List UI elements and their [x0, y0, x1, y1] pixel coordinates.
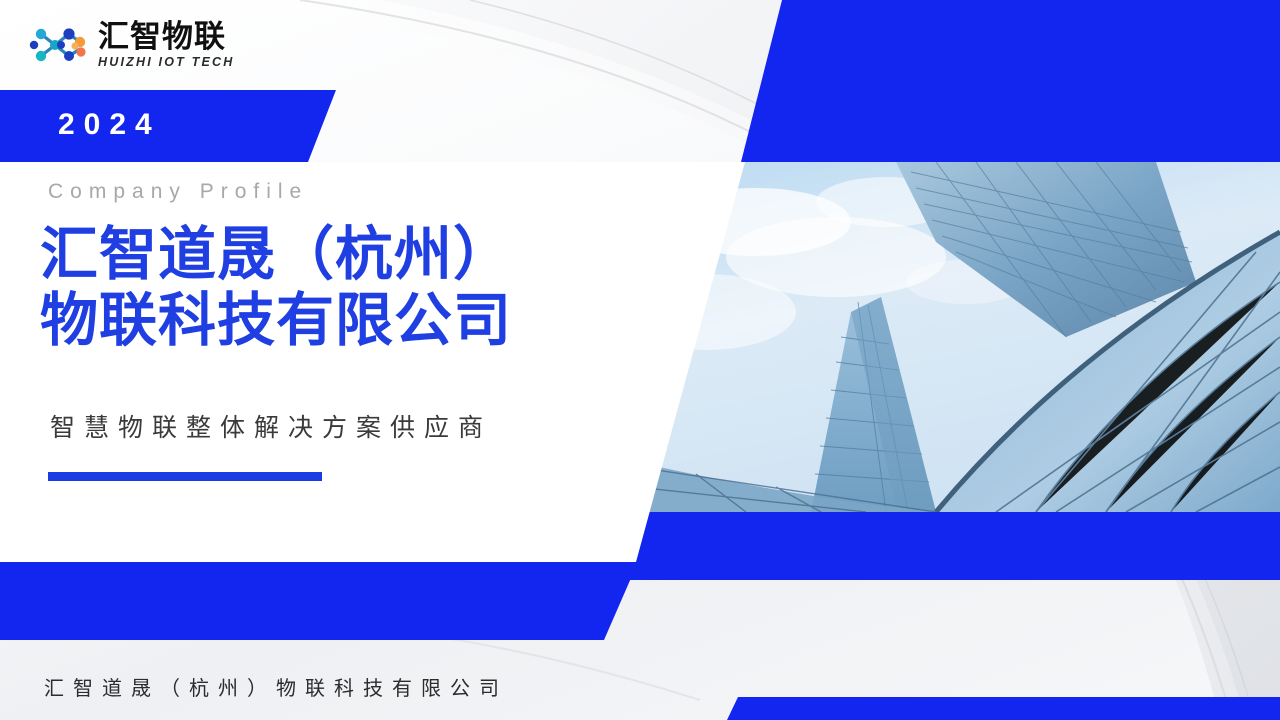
molecule-network-icon	[28, 22, 90, 68]
page-title-line-2: 物联科技有限公司	[40, 288, 720, 354]
tagline: 智慧物联整体解决方案供应商	[50, 408, 492, 444]
footer-company-name: 汇智道晟（杭州）物联科技有限公司	[44, 672, 508, 701]
page-title-line-1: 汇智道晟（杭州）	[40, 220, 512, 288]
year-label: 2024	[58, 108, 161, 142]
logo-chinese-name: 汇智物联	[98, 22, 234, 53]
year-badge	[0, 90, 360, 162]
skyscraper-photo	[636, 162, 1280, 512]
brand-logo[interactable]: 汇智物联 HUIZHI IOT TECH	[28, 22, 234, 69]
eyebrow-label: Company Profile	[48, 180, 308, 204]
presentation-cover-slide: 2024	[0, 0, 1280, 720]
logo-english-name: HUIZHI IOT TECH	[98, 56, 234, 69]
accent-rule	[48, 472, 322, 481]
page-title: 汇智道晟（杭州） 物联科技有限公司	[40, 222, 720, 353]
